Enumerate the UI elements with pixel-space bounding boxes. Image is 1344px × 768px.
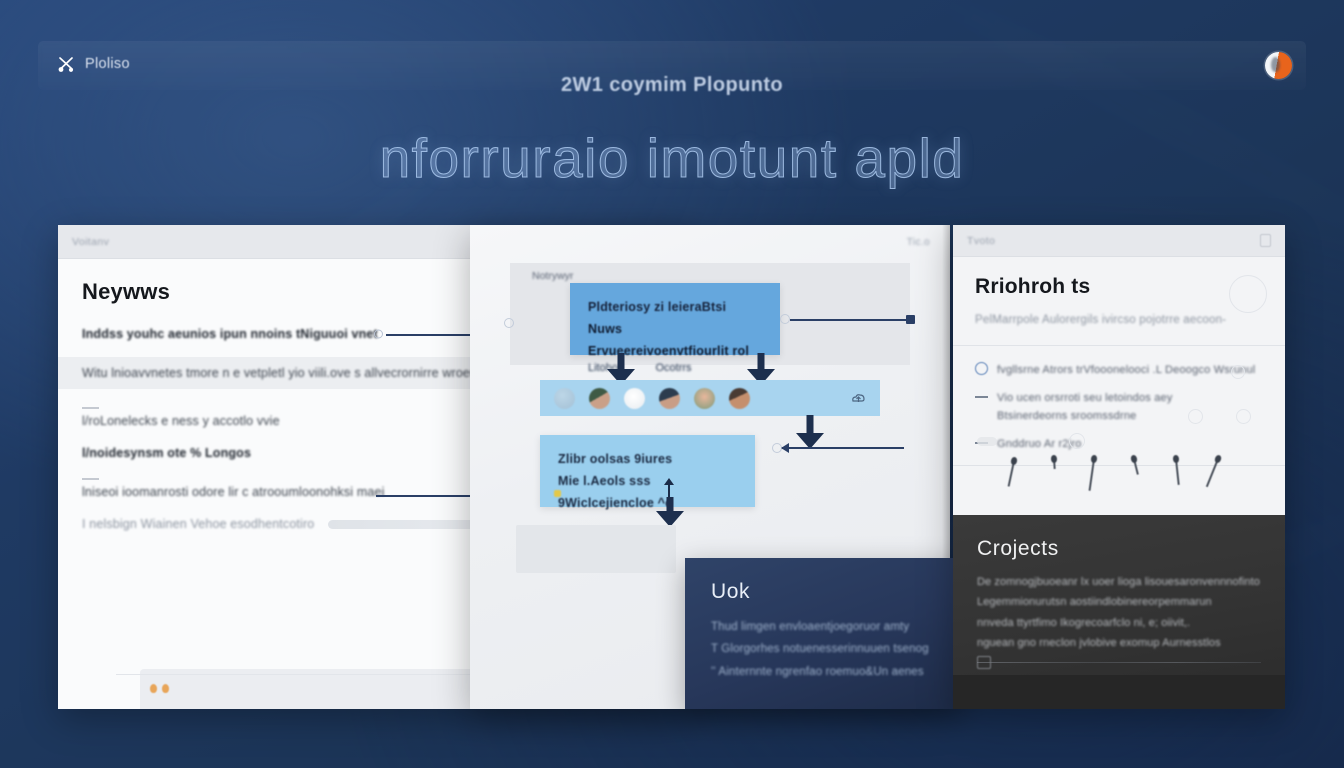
circle-placeholder-icon: [1231, 365, 1245, 379]
diagram-band-label: Notrywyr: [532, 270, 573, 282]
status-dots: [150, 684, 169, 693]
row-tick-icon: [82, 407, 99, 409]
status-dot-icon: [554, 490, 561, 497]
connector-arrow-in: [782, 447, 904, 449]
projects-card: Tvoto Rriohroh ts PelMarrpole Aulorergil…: [953, 225, 1285, 709]
circle-bullet-icon: [975, 362, 988, 375]
list-item-label: I nelsbign Wiainen Vehoe esodhentcotiro: [82, 517, 314, 531]
chrome-label: Tvoto: [967, 235, 995, 247]
avatar-5-icon: [694, 388, 715, 409]
projects-dark-body: De zomnogjbuoeanr lx uoer lioga lisouesa…: [977, 572, 1261, 653]
connector-endpoint-icon: [374, 330, 383, 339]
pin-mark-icon: [1089, 459, 1095, 491]
card-chrome-bar: Tvoto: [953, 225, 1285, 257]
avatar-1-icon: [554, 388, 575, 409]
avatar-row[interactable]: [540, 380, 880, 416]
list-item-label: Vio ucen orsrroti seu letoindos aey Btsi…: [997, 389, 1173, 425]
brand-label: Ploliso: [85, 56, 130, 72]
circle-placeholder-icon: [1236, 409, 1251, 424]
placeholder-block: [516, 525, 676, 573]
chrome-label: Voitanv: [72, 236, 109, 248]
list-item[interactable]: Gnddruo Ar r2jro: [975, 435, 1265, 453]
circle-placeholder-icon: [1069, 433, 1085, 449]
upload-icon[interactable]: [851, 392, 866, 405]
avatar-4-icon: [659, 388, 680, 409]
look-panel-body: Thud limgen envloaentjoegoruor amty T Gl…: [711, 616, 937, 683]
scissors-icon: [56, 54, 76, 74]
section-rule: [977, 662, 1261, 663]
placeholder-pill: [977, 437, 997, 446]
page-title: nforruraio imotunt apld: [0, 126, 1344, 190]
maximize-icon[interactable]: [1260, 234, 1271, 247]
projects-dark-heading: Crojects: [977, 537, 1261, 561]
section-divider: [953, 345, 1285, 346]
flow-node-sublabels: Litoholt Ocotrrs: [588, 359, 692, 378]
pin-mark-icon: [1053, 459, 1056, 469]
avatar-3-icon: [624, 388, 645, 409]
look-panel-heading: Uok: [711, 580, 937, 604]
projects-dark-section: Crojects De zomnogjbuoeanr lx uoer lioga…: [953, 515, 1285, 709]
panel-note: Tic.o: [907, 237, 930, 248]
list-item[interactable]: Vio ucen orsrroti seu letoindos aey Btsi…: [975, 389, 1265, 425]
projects-subtitle: PelMarrpole Aulorergils ivircso pojotrre…: [975, 314, 1263, 326]
projects-card-body: Rriohroh ts PelMarrpole Aulorergils ivir…: [953, 257, 1285, 515]
flow-node-line-2: Mie l.Aeols sss 9Wiclcejiencloe ^o: [558, 471, 737, 515]
dark-footer-bar: [953, 675, 1285, 709]
dash-bullet-icon: [975, 396, 988, 398]
projects-heading: Rriohroh ts: [975, 275, 1263, 299]
row-tick-icon: [82, 478, 99, 480]
baseline-rule: [953, 465, 1285, 466]
connector-arrow-out: [790, 319, 914, 321]
look-panel: Uok Thud limgen envloaentjoegoruor amty …: [685, 558, 963, 709]
projects-list: fvgllsrne Atrors trVfooonelooci .L Deoog…: [975, 361, 1265, 464]
avatar-6-icon: [729, 388, 750, 409]
flow-node-primary[interactable]: Pldteriosy zi leieraBtsi Nuws Ervueereiv…: [570, 283, 780, 355]
flow-node-secondary[interactable]: Zlibr oolsas 9iures Mie l.Aeols sss 9Wic…: [540, 435, 755, 507]
list-item[interactable]: fvgllsrne Atrors trVfooonelooci .L Deoog…: [975, 361, 1265, 379]
flow-node-line-2: Nuws Ervueereivoenvtfiourlit rol: [588, 319, 762, 363]
hero-eyebrow: 2W1 coymim Plopunto: [0, 74, 1344, 97]
list-item-label: fvgllsrne Atrors trVfooonelooci .L Deoog…: [997, 361, 1255, 379]
flow-node-line-1: Pldteriosy zi leieraBtsi: [588, 297, 762, 319]
flow-arrow-up-small: [668, 483, 670, 498]
connector-endpoint-icon: [504, 318, 514, 328]
connector-endpoint-icon: [780, 314, 790, 324]
circle-placeholder-icon: [1188, 409, 1203, 424]
brand-logo[interactable]: Ploliso: [56, 54, 130, 74]
avatar-2-icon: [589, 388, 610, 409]
circle-placeholder-icon: [1229, 275, 1267, 313]
flow-node-sublabel-right: Ocotrrs: [655, 359, 691, 378]
flow-node-line-1: Zlibr oolsas 9iures: [558, 449, 737, 471]
